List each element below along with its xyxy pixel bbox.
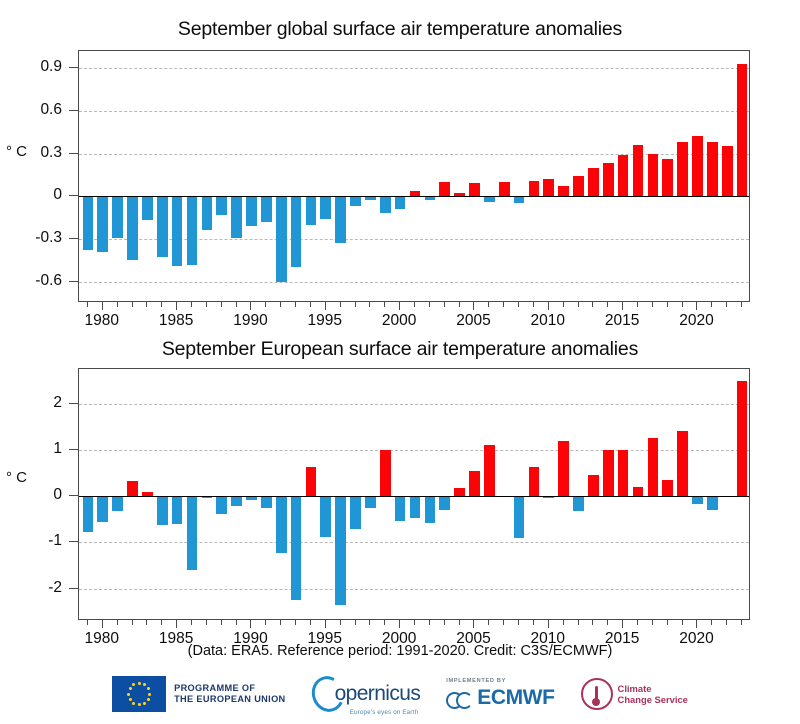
bar-2011 (558, 441, 569, 496)
bar-1997 (350, 496, 361, 529)
chart-panel-global: September global surface air temperature… (0, 18, 800, 330)
x-tick (117, 620, 118, 625)
x-tick (340, 302, 341, 307)
x-tick (265, 302, 266, 307)
y-tick (69, 195, 78, 196)
bar-2006 (484, 445, 495, 496)
x-tick (473, 620, 474, 628)
x-tick (399, 302, 400, 310)
x-tick (488, 302, 489, 307)
bar-2013 (588, 168, 599, 196)
x-tick (161, 620, 162, 625)
c3s-logo-group: Climate Change Service (581, 678, 688, 710)
x-tick (741, 620, 742, 625)
x-tick (132, 302, 133, 307)
y-tick (69, 588, 78, 589)
bar-1992 (276, 196, 287, 281)
y-tick-label: -2 (0, 579, 62, 597)
copernicus-logo: opernicus Europe's eyes on Earth (312, 676, 421, 712)
x-tick (280, 620, 281, 625)
x-tick (176, 620, 177, 628)
bar-1985 (172, 496, 183, 524)
chart-title-global: September global surface air temperature… (0, 18, 800, 41)
bar-1997 (350, 196, 361, 206)
x-tick (325, 302, 326, 310)
bar-2016 (633, 145, 644, 196)
x-tick (265, 620, 266, 625)
y-axis-unit-europe: ° C (6, 469, 27, 486)
bar-2022 (722, 146, 733, 196)
x-tick (87, 620, 88, 625)
eu-flag-icon (112, 676, 166, 712)
figure-root: September global surface air temperature… (0, 0, 800, 724)
bar-1994 (306, 196, 317, 224)
x-tick (250, 620, 251, 628)
bar-2018 (662, 480, 673, 496)
bar-2011 (558, 186, 569, 196)
x-tick (340, 620, 341, 625)
x-tick (191, 620, 192, 625)
x-tick (146, 302, 147, 307)
x-tick (429, 620, 430, 625)
y-tick (69, 110, 78, 111)
x-tick (325, 620, 326, 628)
x-tick (667, 620, 668, 625)
bar-2009 (529, 467, 540, 496)
bar-1992 (276, 496, 287, 552)
y-tick-label: -0.3 (0, 229, 62, 247)
x-tick (414, 302, 415, 307)
x-tick (473, 302, 474, 310)
x-tick (503, 620, 504, 625)
x-tick (161, 302, 162, 307)
x-tick (518, 620, 519, 625)
x-tick-label: 2015 (605, 312, 639, 330)
bar-2005 (469, 471, 480, 496)
y-tick (69, 495, 78, 496)
bar-2016 (633, 487, 644, 496)
bar-1984 (157, 496, 168, 525)
x-tick (518, 302, 519, 307)
bar-2013 (588, 475, 599, 496)
thermometer-icon (581, 678, 613, 710)
bar-1980 (97, 496, 108, 521)
bar-1999 (380, 196, 391, 213)
x-tick (176, 302, 177, 310)
c3s-line1: Climate (618, 683, 688, 695)
x-tick (384, 302, 385, 307)
x-tick (637, 302, 638, 307)
copernicus-word-text: opernicus (335, 682, 421, 705)
x-tick (444, 620, 445, 625)
x-tick (146, 620, 147, 625)
logo-strip: PROGRAMME OF THE EUROPEAN UNION opernicu… (0, 668, 800, 720)
bar-1988 (216, 496, 227, 514)
x-tick (206, 302, 207, 307)
y-tick-label: 0 (0, 486, 62, 504)
x-tick (563, 620, 564, 625)
x-tick-label: 2000 (382, 312, 416, 330)
x-tick (563, 302, 564, 307)
eu-programme-line1: PROGRAMME OF (174, 683, 285, 695)
x-tick (607, 620, 608, 625)
bar-1982 (127, 481, 138, 496)
bar-2019 (677, 142, 688, 196)
x-tick-label: 1990 (233, 312, 267, 330)
bar-2009 (529, 181, 540, 197)
chart-title-europe: September European surface air temperatu… (0, 338, 800, 361)
x-tick (355, 620, 356, 625)
x-tick (87, 302, 88, 307)
x-tick-label: 1995 (308, 312, 342, 330)
bar-2002 (425, 496, 436, 523)
bar-2020 (692, 496, 703, 504)
x-tick (667, 302, 668, 307)
x-tick (652, 620, 653, 625)
bar-1999 (380, 450, 391, 496)
ecmwf-logo-group: IMPLEMENTED BY ECMWF (446, 678, 554, 710)
copernicus-tagline: Europe's eyes on Earth (350, 709, 419, 716)
bar-1996 (335, 496, 346, 605)
x-tick (102, 302, 103, 310)
x-tick (310, 302, 311, 307)
y-tick (69, 153, 78, 154)
bar-2007 (499, 182, 510, 196)
x-tick (221, 302, 222, 307)
y-tick-label: 1 (0, 440, 62, 458)
x-tick (399, 620, 400, 628)
y-tick-label: 2 (0, 394, 62, 412)
x-tick (102, 620, 103, 628)
bar-1998 (365, 496, 376, 508)
x-tick (369, 620, 370, 625)
bar-1980 (97, 196, 108, 252)
bar-2004 (454, 488, 465, 496)
bar-2023 (737, 64, 748, 196)
x-tick (696, 302, 697, 310)
bar-1986 (187, 496, 198, 570)
x-tick-label: 2010 (531, 312, 565, 330)
x-tick (548, 302, 549, 310)
ecmwf-row: ECMWF (446, 686, 554, 710)
x-tick (206, 620, 207, 625)
x-tick (622, 620, 623, 628)
bar-2015 (618, 450, 629, 496)
x-tick (607, 302, 608, 307)
bar-2000 (395, 496, 406, 521)
x-tick (295, 620, 296, 625)
ecmwf-mark-icon (446, 689, 473, 708)
y-tick-label: 0 (0, 186, 62, 204)
x-tick (444, 302, 445, 307)
zero-line (79, 196, 749, 197)
bar-1987 (202, 196, 213, 230)
bar-1979 (83, 196, 94, 250)
y-tick (69, 281, 78, 282)
y-tick-label: 0.3 (0, 144, 62, 162)
x-tick (548, 620, 549, 628)
x-tick (682, 620, 683, 625)
bar-1981 (112, 196, 123, 237)
x-tick (310, 620, 311, 625)
bar-series-global (79, 51, 749, 301)
x-tick-label: 2020 (679, 312, 713, 330)
bar-1985 (172, 196, 183, 266)
bar-1984 (157, 196, 168, 257)
x-tick (578, 302, 579, 307)
x-tick (414, 620, 415, 625)
eu-programme-text: PROGRAMME OF THE EUROPEAN UNION (174, 683, 285, 706)
bar-2003 (439, 496, 450, 510)
bar-2012 (573, 496, 584, 511)
x-tick (741, 302, 742, 307)
bar-1989 (231, 496, 242, 506)
bar-1995 (320, 196, 331, 219)
bar-1996 (335, 196, 346, 243)
y-tick (69, 67, 78, 68)
copernicus-wordmark: opernicus Europe's eyes on Earth (335, 682, 421, 706)
bar-1981 (112, 496, 123, 511)
x-tick (726, 302, 727, 307)
eu-programme-line2: THE EUROPEAN UNION (174, 694, 285, 706)
x-tick (637, 620, 638, 625)
x-tick (132, 620, 133, 625)
x-tick (696, 620, 697, 628)
bar-2014 (603, 450, 614, 496)
bar-2020 (692, 136, 703, 196)
x-tick (622, 302, 623, 310)
x-tick (221, 620, 222, 625)
ecmwf-wordmark: ECMWF (477, 686, 554, 710)
x-tick (236, 302, 237, 307)
x-tick (488, 620, 489, 625)
x-tick (191, 302, 192, 307)
bar-2021 (707, 142, 718, 196)
zero-line (79, 496, 749, 497)
bar-2017 (648, 438, 659, 496)
x-tick (578, 620, 579, 625)
bar-2019 (677, 431, 688, 496)
bar-2010 (543, 179, 554, 196)
x-tick (592, 620, 593, 625)
bar-2017 (648, 154, 659, 197)
bar-2014 (603, 163, 614, 196)
bar-2008 (514, 496, 525, 538)
bar-1991 (261, 496, 272, 508)
bar-1989 (231, 196, 242, 237)
x-tick-label: 2005 (456, 312, 490, 330)
bar-2000 (395, 196, 406, 209)
x-tick (652, 302, 653, 307)
x-tick (384, 620, 385, 625)
x-tick (533, 620, 534, 625)
x-tick (682, 302, 683, 307)
x-tick (459, 302, 460, 307)
x-tick-label: 1985 (159, 312, 193, 330)
c3s-text: Climate Change Service (618, 683, 688, 706)
x-tick (295, 302, 296, 307)
x-tick (592, 302, 593, 307)
y-tick-label: -1 (0, 532, 62, 550)
x-tick (280, 302, 281, 307)
y-tick-label: 0.9 (0, 58, 62, 76)
y-tick-label: 0.6 (0, 101, 62, 119)
c3s-line2: Change Service (618, 694, 688, 706)
x-tick-label: 1980 (85, 312, 119, 330)
bar-1994 (306, 467, 317, 496)
x-tick (533, 302, 534, 307)
x-tick (726, 620, 727, 625)
bar-2008 (514, 196, 525, 203)
y-tick-label: -0.6 (0, 272, 62, 290)
bar-1993 (291, 196, 302, 267)
bar-1979 (83, 496, 94, 532)
x-tick (711, 620, 712, 625)
x-tick (369, 302, 370, 307)
bar-1988 (216, 196, 227, 215)
x-tick (711, 302, 712, 307)
bar-1986 (187, 196, 198, 264)
implemented-by-label: IMPLEMENTED BY (446, 678, 554, 684)
bar-1995 (320, 496, 331, 537)
x-tick (355, 302, 356, 307)
bar-2023 (737, 381, 748, 497)
bar-2005 (469, 183, 480, 196)
bar-series-europe (79, 369, 749, 619)
credit-line: (Data: ERA5. Reference period: 1991-2020… (0, 643, 800, 659)
bar-2001 (410, 496, 421, 518)
y-tick (69, 238, 78, 239)
bar-2015 (618, 155, 629, 196)
y-tick (69, 541, 78, 542)
plot-area-global (78, 50, 750, 302)
bar-1991 (261, 196, 272, 222)
x-tick (429, 302, 430, 307)
y-tick (69, 403, 78, 404)
x-tick (459, 620, 460, 625)
y-tick (69, 449, 78, 450)
bar-1983 (142, 196, 153, 220)
bar-1982 (127, 196, 138, 260)
x-tick (250, 302, 251, 310)
bar-2003 (439, 182, 450, 196)
eu-logo-group: PROGRAMME OF THE EUROPEAN UNION (112, 676, 285, 712)
bar-1990 (246, 196, 257, 226)
x-tick (236, 620, 237, 625)
bar-2021 (707, 496, 718, 510)
bar-2012 (573, 176, 584, 196)
bar-1993 (291, 496, 302, 600)
x-tick (117, 302, 118, 307)
plot-area-europe (78, 368, 750, 620)
x-tick (503, 302, 504, 307)
bar-2018 (662, 159, 673, 196)
chart-panel-europe: September European surface air temperatu… (0, 338, 800, 638)
